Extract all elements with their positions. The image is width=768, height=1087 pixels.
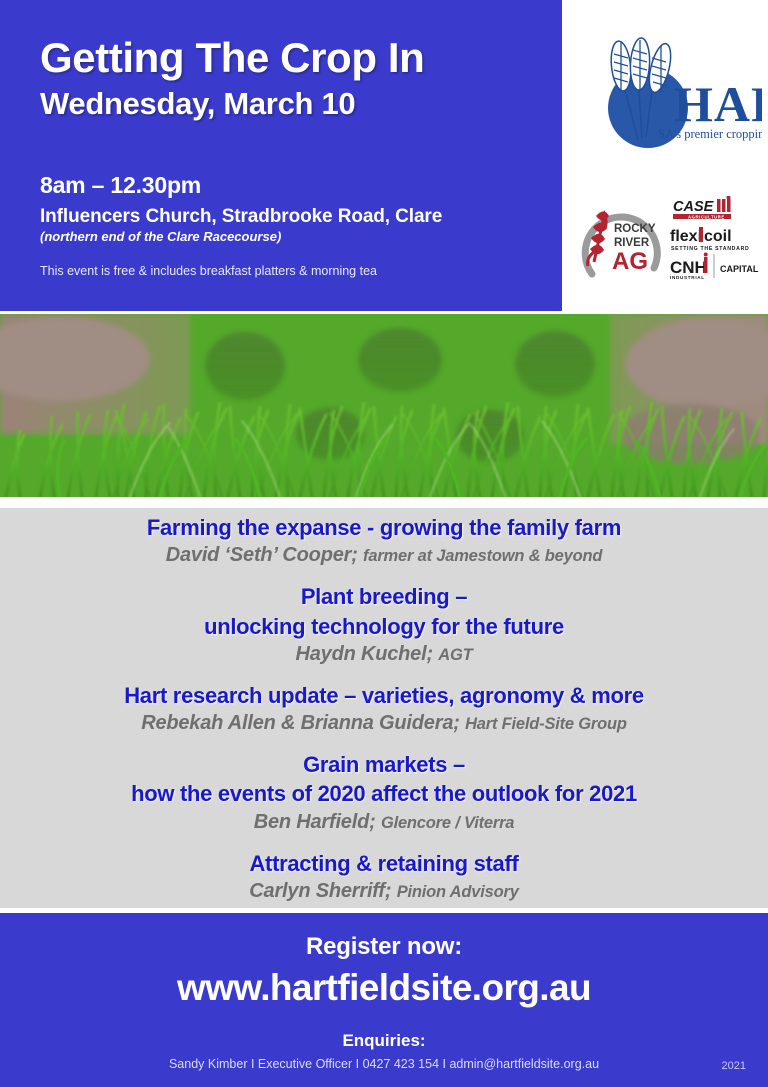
svg-text:CAPITAL: CAPITAL	[720, 264, 759, 274]
svg-text:SETTING THE STANDARD: SETTING THE STANDARD	[671, 246, 749, 252]
session-speaker: Ben Harfield; Glencore / Viterra	[0, 809, 768, 836]
header-block: Getting The Crop In Wednesday, March 10 …	[0, 0, 562, 311]
session-speaker: David ‘Seth’ Cooper; farmer at Jamestown…	[0, 542, 768, 569]
event-inclusions-note: This event is free & includes breakfast …	[40, 264, 544, 278]
session-spacer	[0, 836, 768, 849]
logo-area: HART SA's premier cropping field site RO…	[566, 0, 768, 311]
program-panel: Farming the expanse - growing the family…	[0, 508, 768, 908]
svg-text:ROCKY: ROCKY	[614, 223, 656, 235]
register-label: Register now:	[0, 933, 768, 961]
case-ih-logo-icon: CASE AGRICULTURE	[673, 196, 731, 219]
crop-field-photo	[0, 314, 768, 497]
session-speaker: Haydn Kuchel; AGT	[0, 641, 768, 668]
svg-text:AGRICULTURE: AGRICULTURE	[688, 214, 725, 219]
sponsor-logo-strip: ROCKY RIVER AG CASE AGRICULTURE flexi co…	[578, 196, 768, 286]
session-speaker: Rebekah Allen & Brianna Guidera; Hart Fi…	[0, 710, 768, 737]
session-spacer	[0, 569, 768, 582]
speaker-affiliation: farmer at Jamestown & beyond	[363, 547, 602, 565]
session-title: Attracting & retaining staff	[0, 849, 768, 878]
event-venue-note: (northern end of the Clare Racecourse)	[40, 229, 544, 244]
hart-logo-icon: HART SA's premier cropping field site	[576, 18, 762, 158]
speaker-name: Rebekah Allen & Brianna Guidera;	[141, 712, 465, 734]
svg-text:SA's premier cropping field si: SA's premier cropping field site	[658, 127, 762, 141]
session-item: Attracting & retaining staff Carlyn Sher…	[0, 849, 768, 905]
header-text-group: Getting The Crop In Wednesday, March 10 …	[40, 36, 544, 278]
svg-text:HART: HART	[674, 76, 762, 132]
session-item: Farming the expanse - growing the family…	[0, 513, 768, 569]
svg-text:coil: coil	[704, 228, 732, 245]
svg-text:INDUSTRIAL: INDUSTRIAL	[670, 275, 705, 280]
hart-logo: HART SA's premier cropping field site	[576, 18, 762, 158]
speaker-affiliation: Hart Field-Site Group	[465, 715, 627, 733]
event-time: 8am – 12.30pm	[40, 172, 544, 199]
speaker-name: Ben Harfield;	[254, 811, 381, 833]
register-url-link[interactable]: www.hartfieldsite.org.au	[0, 967, 768, 1009]
event-date: Wednesday, March 10	[40, 86, 544, 122]
session-speaker: Carlyn Sherriff; Pinion Advisory	[0, 878, 768, 905]
session-item: Hart research update – varieties, agrono…	[0, 681, 768, 737]
footer-block: Register now: www.hartfieldsite.org.au E…	[0, 913, 768, 1087]
session-title: Farming the expanse - growing the family…	[0, 513, 768, 542]
enquiries-label: Enquiries:	[0, 1031, 768, 1051]
session-title-line2: unlocking technology for the future	[0, 612, 768, 641]
session-title: Grain markets –	[0, 750, 768, 779]
session-title: Hart research update – varieties, agrono…	[0, 681, 768, 710]
flexi-coil-logo-icon: flexi coil SETTING THE STANDARD	[670, 227, 749, 252]
enquiries-contact-line[interactable]: Sandy Kimber I Executive Officer I 0427 …	[0, 1057, 768, 1071]
session-spacer	[0, 668, 768, 681]
event-venue: Influencers Church, Stradbrooke Road, Cl…	[40, 206, 544, 228]
svg-text:AG: AG	[612, 248, 648, 275]
page-title: Getting The Crop In	[40, 36, 544, 80]
crop-field-photo-image	[0, 314, 768, 497]
cnh-capital-logo-icon: CNH INDUSTRIAL CAPITAL	[670, 253, 759, 281]
speaker-name: Haydn Kuchel;	[295, 643, 438, 665]
session-item: Plant breeding – unlocking technology fo…	[0, 582, 768, 668]
session-item: Grain markets – how the events of 2020 a…	[0, 750, 768, 836]
session-title: Plant breeding –	[0, 582, 768, 611]
year-tag: 2021	[722, 1060, 746, 1072]
speaker-affiliation: AGT	[438, 646, 472, 664]
speaker-affiliation: Pinion Advisory	[397, 883, 519, 901]
session-title-line2: how the events of 2020 affect the outloo…	[0, 779, 768, 808]
svg-text:flexi: flexi	[670, 228, 702, 245]
speaker-name: Carlyn Sherriff;	[249, 880, 396, 902]
speaker-name: David ‘Seth’ Cooper;	[166, 544, 363, 566]
svg-text:CASE: CASE	[673, 199, 715, 215]
session-spacer	[0, 737, 768, 750]
speaker-affiliation: Glencore / Viterra	[381, 814, 514, 832]
rocky-river-ag-logo-icon: ROCKY RIVER AG	[585, 210, 657, 275]
